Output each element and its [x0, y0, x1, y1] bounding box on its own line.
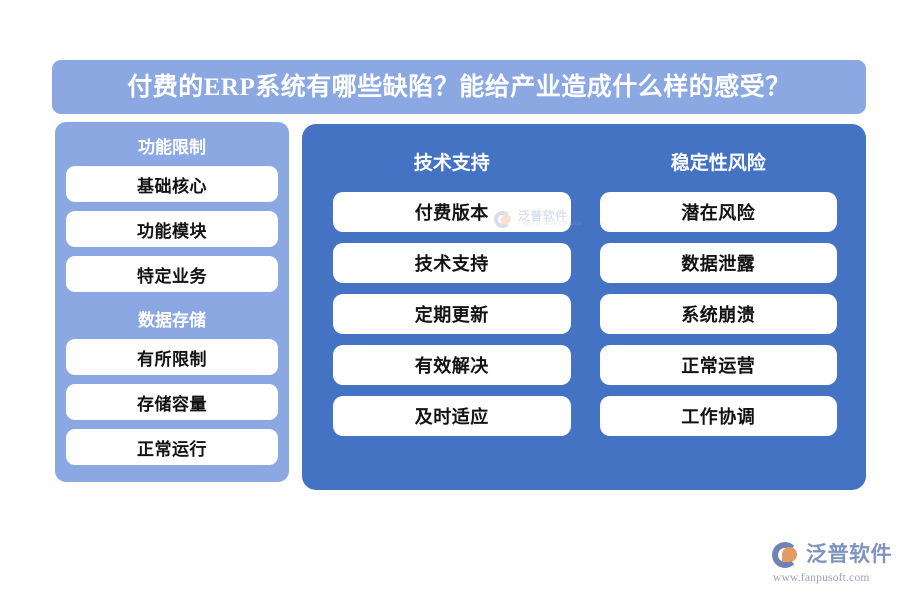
- page-title: 付费的ERP系统有哪些缺陷？能给产业造成什么样的感受？: [127, 75, 791, 100]
- right-card-1-3[interactable]: 正常运营: [600, 345, 838, 385]
- left-card-0-2[interactable]: 特定业务: [66, 256, 278, 292]
- right-column-header-1: 稳定性风险: [600, 142, 838, 192]
- right-panel: 技术支持 付费版本 技术支持 定期更新 有效解决 及时适应 稳定性风险 潜在风险…: [302, 124, 866, 490]
- left-group-header-0: 功能限制: [66, 128, 278, 166]
- title-banner: 付费的ERP系统有哪些缺陷？能给产业造成什么样的感受？: [52, 60, 866, 114]
- right-card-0-3[interactable]: 有效解决: [333, 345, 571, 385]
- right-card-0-0[interactable]: 付费版本: [333, 192, 571, 232]
- brand-website-url: www.fanpusoft.com: [773, 572, 870, 584]
- right-card-0-1[interactable]: 技术支持: [333, 243, 571, 283]
- right-card-1-1[interactable]: 数据泄露: [600, 243, 838, 283]
- right-card-0-4[interactable]: 及时适应: [333, 396, 571, 436]
- right-card-1-0[interactable]: 潜在风险: [600, 192, 838, 232]
- left-card-1-1[interactable]: 存储容量: [66, 384, 278, 420]
- left-group-header-1: 数据存储: [66, 301, 278, 339]
- left-card-0-1[interactable]: 功能模块: [66, 211, 278, 247]
- brand-name-cn: 泛普软件: [806, 544, 892, 565]
- right-card-0-2[interactable]: 定期更新: [333, 294, 571, 334]
- right-column-stability-risk: 稳定性风险 潜在风险 数据泄露 系统崩溃 正常运营 工作协调: [600, 142, 838, 468]
- right-column-header-0: 技术支持: [333, 142, 571, 192]
- diagram-canvas: 付费的ERP系统有哪些缺陷？能给产业造成什么样的感受？ 功能限制 基础核心 功能…: [0, 0, 900, 600]
- left-card-0-0[interactable]: 基础核心: [66, 166, 278, 202]
- right-column-tech-support: 技术支持 付费版本 技术支持 定期更新 有效解决 及时适应: [333, 142, 571, 468]
- brand-logo: 泛普软件 www.fanpusoft.com: [772, 538, 892, 590]
- fanpu-logo-icon: [772, 540, 801, 569]
- left-panel: 功能限制 基础核心 功能模块 特定业务 数据存储 有所限制 存储容量 正常运行: [55, 122, 289, 482]
- brand-logo-row: 泛普软件: [772, 538, 892, 570]
- right-card-1-2[interactable]: 系统崩溃: [600, 294, 838, 334]
- left-card-1-2[interactable]: 正常运行: [66, 429, 278, 465]
- right-card-1-4[interactable]: 工作协调: [600, 396, 838, 436]
- left-card-1-0[interactable]: 有所限制: [66, 339, 278, 375]
